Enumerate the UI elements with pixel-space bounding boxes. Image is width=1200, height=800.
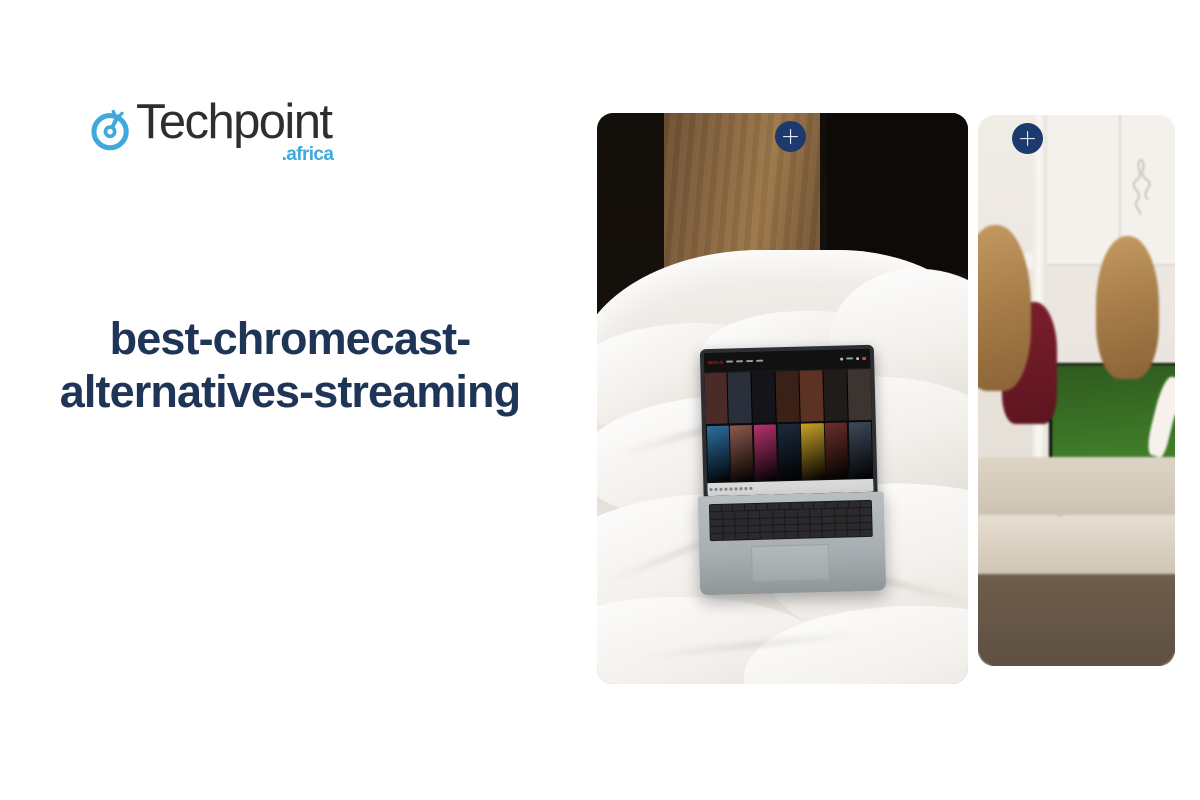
keyboard-key: [748, 533, 760, 540]
netflix-hero-tile: [848, 369, 872, 421]
plus-icon-livingroom[interactable]: [1012, 123, 1043, 154]
keyboard-key: [711, 527, 723, 534]
keyboard-key: [745, 504, 756, 511]
dock-app-icon: [739, 488, 742, 491]
keyboard-key: [736, 526, 748, 533]
keyboard-key: [798, 532, 810, 539]
netflix-hero-tile: [776, 370, 800, 422]
keyboard-key: [838, 502, 849, 509]
livingroom-photo: [978, 115, 1175, 666]
keyboard-key: [849, 501, 860, 508]
keyboard-key: [835, 509, 847, 516]
netflix-title-tile: [730, 425, 754, 482]
photo-card-livingroom[interactable]: [978, 115, 1175, 666]
page-title: best-chromecast-alternatives-streaming: [30, 312, 550, 418]
left-content-column: Techpoint .africa best-chromecast-altern…: [0, 0, 570, 800]
netflix-tile-row: [706, 420, 874, 484]
keyboard-key: [723, 527, 735, 534]
keyboard-key: [773, 532, 785, 539]
sofa: [978, 457, 1175, 666]
keyboard-key: [823, 509, 835, 516]
keyboard-key: [760, 511, 772, 518]
keyboard-key: [711, 534, 723, 541]
bedroom-photo: NETFLIX: [597, 113, 968, 684]
keyboard-key: [826, 502, 837, 509]
keyboard-key: [711, 520, 723, 527]
netflix-hero-tile: [704, 372, 728, 424]
keyboard-key: [823, 517, 835, 524]
dock-app-icon: [714, 488, 717, 491]
keyboard-key: [773, 525, 785, 532]
keyboard-key: [861, 523, 873, 530]
keyboard-key: [722, 505, 733, 512]
keyboard-key: [736, 533, 748, 540]
keyboard-key: [768, 504, 779, 511]
keyboard-key: [835, 516, 847, 523]
keyboard-key: [814, 502, 825, 509]
keyboard-key: [798, 525, 810, 532]
keyboard-key: [748, 526, 760, 533]
keyboard-key: [848, 516, 860, 523]
netflix-title-tile: [707, 425, 731, 482]
keyboard-key: [810, 510, 822, 517]
keyboard-key: [710, 505, 721, 512]
keyboard-key: [761, 526, 773, 533]
target-bullseye-wrench-icon: [88, 104, 134, 152]
keyboard-key: [791, 503, 802, 510]
dock-app-icon: [724, 488, 727, 491]
keyboard-key: [773, 518, 785, 525]
keyboard-key: [723, 519, 735, 526]
dock-app-icon: [729, 488, 732, 491]
search-icon: [840, 357, 843, 360]
keyboard-key: [786, 525, 798, 532]
keyboard-key: [810, 517, 822, 524]
plus-icon-bedroom[interactable]: [775, 121, 806, 152]
keyboard-key: [860, 508, 872, 515]
keyboard-key: [836, 524, 848, 531]
keyboard-key: [848, 509, 860, 516]
bedroom-dark-corner: [827, 113, 968, 273]
laptop-base: [698, 492, 886, 595]
dock-app-icon: [734, 488, 737, 491]
keyboard-key: [848, 523, 860, 530]
keyboard-key: [823, 524, 835, 531]
keyboard-key: [733, 504, 744, 511]
keyboard-key: [798, 510, 810, 517]
laptop-screen: NETFLIX: [704, 349, 874, 497]
keyboard-key: [823, 531, 835, 538]
keyboard-key: [710, 512, 722, 519]
brand-name: Techpoint: [136, 98, 331, 148]
netflix-hero-row: [704, 369, 872, 425]
netflix-hero-tile: [752, 371, 776, 423]
media-gallery: NETFLIX: [570, 0, 1200, 800]
viewer-head-right: [1096, 236, 1159, 379]
keyboard-key: [803, 503, 814, 510]
keyboard-key: [798, 517, 810, 524]
macbook-laptop: NETFLIX: [694, 345, 886, 595]
keyboard-key: [780, 503, 791, 510]
keyboard-key: [723, 534, 735, 541]
dock-app-icon: [709, 488, 712, 491]
keyboard-key: [748, 511, 760, 518]
dock-app-icon: [749, 487, 752, 490]
netflix-hero-tile: [800, 370, 824, 422]
keyboard-key: [785, 510, 797, 517]
techpoint-logo[interactable]: Techpoint .africa: [88, 98, 331, 160]
netflix-title-tile: [825, 422, 849, 479]
laptop-keyboard: [709, 500, 873, 542]
keyboard-key: [811, 524, 823, 531]
laptop-lid: NETFLIX: [700, 345, 878, 502]
keyboard-key: [861, 501, 872, 508]
page-root: Techpoint .africa best-chromecast-altern…: [0, 0, 1200, 800]
keyboard-key: [723, 512, 735, 519]
wall-art-sketch: [1110, 126, 1169, 247]
brand-wordmark: Techpoint .africa: [136, 98, 331, 148]
keyboard-key: [735, 512, 747, 519]
keyboard-key: [761, 533, 773, 540]
dock-app-icon: [744, 488, 747, 491]
laptop-trackpad: [751, 544, 830, 581]
netflix-title-tile: [754, 424, 778, 481]
netflix-title-tile: [849, 422, 873, 479]
keyboard-key: [786, 532, 798, 539]
netflix-logo: NETFLIX: [708, 360, 723, 365]
netflix-title-tile: [801, 423, 825, 480]
netflix-hero-tile: [824, 369, 848, 421]
keyboard-key: [760, 518, 772, 525]
keyboard-key: [736, 519, 748, 526]
brand-tld: .africa: [282, 145, 334, 164]
dock-app-icon: [719, 488, 722, 491]
keyboard-key: [811, 531, 823, 538]
keyboard-key: [748, 519, 760, 526]
netflix-title-tile: [778, 423, 802, 480]
keyboard-key: [860, 516, 872, 523]
profile-avatar: [862, 357, 866, 360]
photo-card-bedroom[interactable]: NETFLIX: [597, 113, 968, 684]
keyboard-key: [773, 511, 785, 518]
netflix-hero-tile: [728, 372, 752, 424]
keyboard-key: [848, 531, 860, 538]
keyboard-key: [785, 518, 797, 525]
bell-icon: [856, 357, 859, 360]
keyboard-key: [757, 504, 768, 511]
keyboard-key: [861, 530, 873, 537]
keyboard-key: [836, 531, 848, 538]
